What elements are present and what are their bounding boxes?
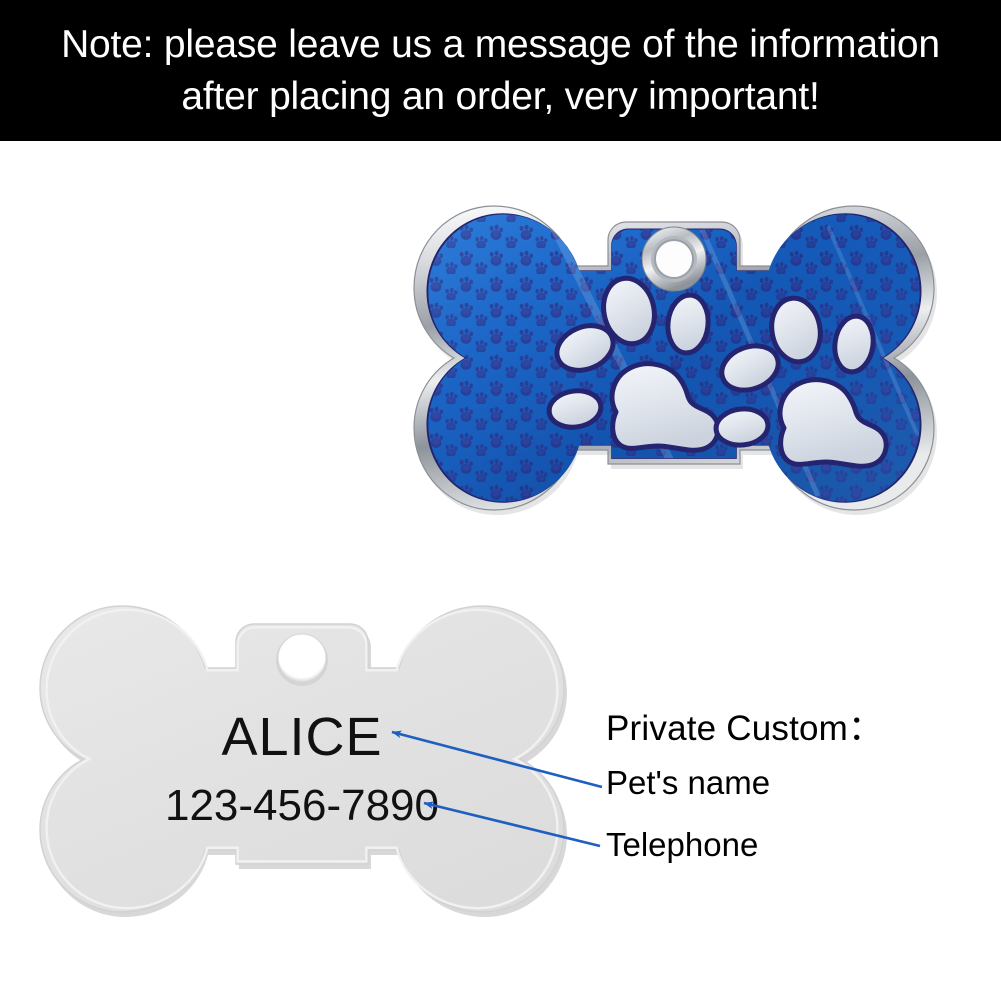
gray-tag-pet-name: ALICE: [221, 707, 382, 767]
blue-tag-hanging-hole: [642, 227, 706, 291]
gray-tag-hanging-hole: [276, 634, 328, 686]
note-banner-line-2: after placing an order, very important!: [181, 71, 819, 122]
engraved-bone-tag-preview: ALICE 123-456-7890: [22, 592, 582, 942]
product-image: Note: please leave us a message of the i…: [0, 0, 1001, 1001]
note-banner: Note: please leave us a message of the i…: [0, 0, 1001, 141]
note-banner-line-1: Note: please leave us a message of the i…: [61, 19, 940, 70]
gray-tag-graphic: ALICE 123-456-7890: [22, 592, 582, 942]
annotation-label-pet-name: Pet's name: [606, 764, 770, 802]
annotation-title: Private Custom：: [606, 700, 883, 751]
annotation-label-telephone: Telephone: [606, 826, 758, 864]
gray-tag-telephone: 123-456-7890: [165, 781, 439, 830]
blue-tag-graphic: [398, 196, 950, 546]
blue-enamel-bone-tag: [398, 196, 950, 546]
